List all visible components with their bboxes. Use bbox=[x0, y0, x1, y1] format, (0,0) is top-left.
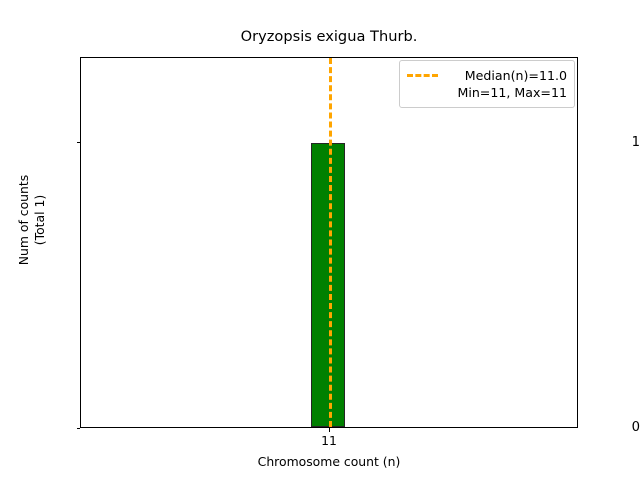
legend-row: Median(n)=11.0 Min=11, Max=11 bbox=[407, 67, 567, 101]
x-tick-label-11: 11 bbox=[321, 434, 337, 448]
y-tick-label-1: 1 bbox=[572, 136, 640, 149]
y-axis-label: Num of counts (Total 1) bbox=[16, 70, 48, 370]
median-line bbox=[329, 58, 332, 427]
figure-canvas: Oryzopsis exigua Thurb. Num of counts (T… bbox=[0, 0, 640, 480]
plot-area: Median(n)=11.0 Min=11, Max=11 bbox=[80, 57, 578, 428]
legend-labels: Median(n)=11.0 Min=11, Max=11 bbox=[445, 67, 567, 101]
legend-label-median: Median(n)=11.0 bbox=[445, 67, 567, 84]
legend-label-minmax: Min=11, Max=11 bbox=[445, 84, 567, 101]
y-tick-label-0: 0 bbox=[572, 421, 640, 434]
chart-title: Oryzopsis exigua Thurb. bbox=[80, 28, 578, 46]
x-tick-mark-11 bbox=[329, 428, 330, 432]
x-axis-label: Chromosome count (n) bbox=[80, 454, 578, 469]
legend: Median(n)=11.0 Min=11, Max=11 bbox=[399, 60, 575, 108]
legend-dashed-line-icon bbox=[407, 74, 438, 77]
